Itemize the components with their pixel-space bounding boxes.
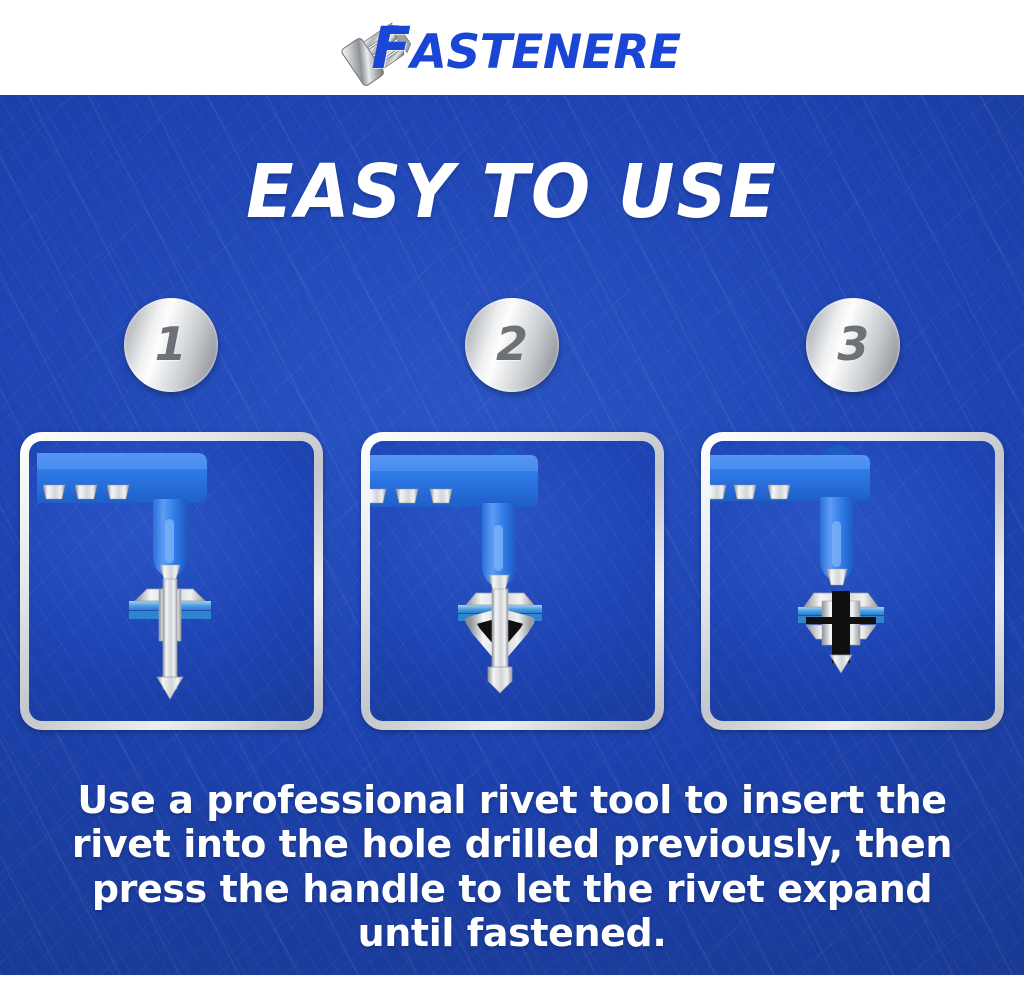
step-panel-1-inner	[29, 441, 314, 721]
step-badge-3: 3	[806, 298, 900, 392]
step-badge-2-number: 2	[496, 321, 528, 367]
page-title: EASY TO USE	[31, 155, 994, 229]
step-badge-1-number: 1	[155, 321, 187, 367]
step-badge-2: 2	[465, 298, 559, 392]
brand-logo: FASTENERE	[343, 12, 680, 84]
step-panel-2-inner	[370, 441, 655, 721]
step-panel-2	[361, 432, 664, 730]
step-panel-1	[20, 432, 323, 730]
step-panels-row	[20, 432, 1004, 730]
main-blue-panel: EASY TO USE 1 2 3	[0, 95, 1024, 975]
rivet-expanding-icon	[370, 441, 655, 721]
brand-logo-initial: F	[371, 14, 410, 82]
footer-white-strip	[0, 975, 1024, 981]
step-panel-3-inner	[710, 441, 995, 721]
badge-cell-3: 3	[683, 290, 1024, 400]
header-band: FASTENERE	[0, 0, 1024, 95]
step-badge-1: 1	[124, 298, 218, 392]
step-panel-3	[701, 432, 1004, 730]
instruction-caption: Use a professional rivet tool to insert …	[52, 778, 972, 956]
rivet-tool-inserting-rivet-icon	[29, 441, 314, 721]
step-badges-row: 1 2 3	[0, 290, 1024, 400]
badge-cell-1: 1	[0, 290, 341, 400]
rivet-fastened-icon	[710, 441, 995, 721]
infographic-page: FASTENERE EASY TO USE 1 2 3	[0, 0, 1024, 981]
brand-logo-rest: ASTENERE	[410, 25, 680, 80]
brand-logo-text: FASTENERE	[343, 19, 680, 77]
step-badge-3-number: 3	[837, 321, 869, 367]
badge-cell-2: 2	[341, 290, 682, 400]
